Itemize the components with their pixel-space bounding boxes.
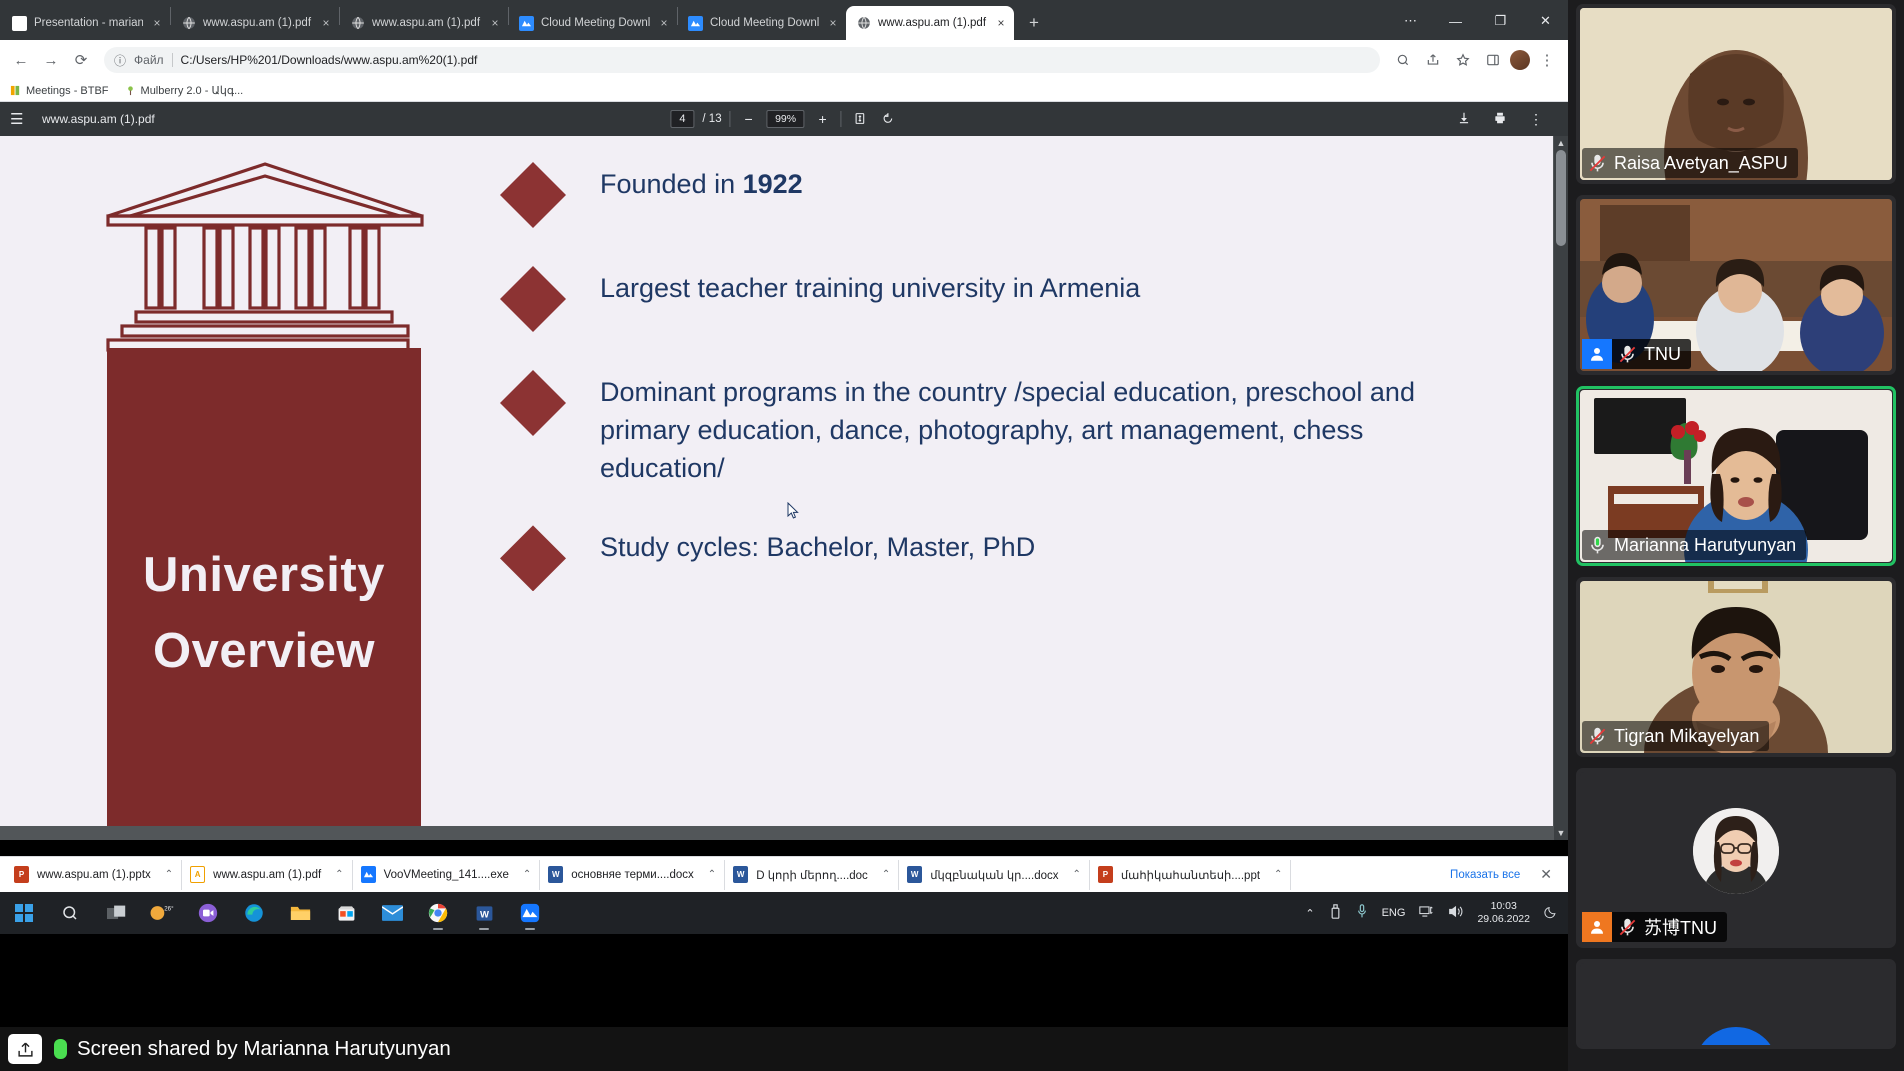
window-controls: ⋯ — ❐ ✕ (1388, 6, 1568, 36)
running-indicator (479, 928, 489, 930)
diamond-bullet-icon (500, 162, 566, 228)
pdf-toolbar: ☰ www.aspu.am (1).pdf 4 / 13 − 99% + (0, 102, 1568, 136)
download-item-2[interactable]: VooVMeeting_141....exe ⌃ (353, 860, 541, 890)
word-icon: W (733, 866, 748, 883)
print-icon[interactable] (1490, 111, 1510, 127)
download-label: մահիկահանտեսի....ppt (1121, 868, 1260, 882)
taskbar-apps: 26° (0, 895, 548, 931)
powerpoint-icon: P (1098, 866, 1113, 883)
download-item-5[interactable]: W մկզբնական կր....docx ⌃ (899, 860, 1090, 890)
browser-toolbar: ← → ⟳ ⓘ Файл C:/Users/HP%201/Downloads/w… (0, 40, 1568, 80)
scroll-up-arrow[interactable]: ▲ (1555, 138, 1567, 148)
url-text: C:/Users/HP%201/Downloads/www.aspu.am%20… (181, 53, 1370, 67)
powerpoint-icon: P (14, 866, 29, 883)
mail-icon[interactable] (374, 895, 410, 931)
participant-tile-raisa-avetyan[interactable]: Raisa Avetyan_ASPU (1576, 4, 1896, 184)
pdf-viewport[interactable]: University Overview Founded in 1922 Larg… (0, 136, 1568, 840)
browser-tab-3[interactable]: Cloud Meeting Download_Video × (509, 6, 677, 40)
tab-close-icon[interactable]: × (994, 16, 1008, 30)
word-icon: W (907, 866, 922, 883)
language-indicator[interactable]: ENG (1382, 907, 1406, 919)
svg-text:W: W (480, 909, 489, 920)
microphone-on-icon (54, 1039, 67, 1059)
tab-label: Presentation - marianna.harutyu (34, 17, 143, 29)
zoom-icon (519, 16, 534, 31)
file-explorer-icon[interactable] (282, 895, 318, 931)
participant-name: TNU (1642, 344, 1691, 365)
running-indicator (433, 928, 443, 930)
star-icon[interactable] (1450, 47, 1476, 73)
participant-name-bar: TNU (1582, 339, 1691, 369)
slide-bullet-0: Founded in 1922 (500, 166, 1460, 228)
rotate-icon[interactable] (878, 112, 898, 127)
participant-name-bar: Tigran Mikayelyan (1582, 721, 1769, 751)
pdf-scroll-thumb[interactable] (1556, 150, 1566, 246)
pdf-icon: A (190, 866, 205, 883)
avatar (1693, 808, 1779, 894)
word-icon: W (548, 866, 563, 883)
address-bar[interactable]: ⓘ Файл C:/Users/HP%201/Downloads/www.asp… (104, 47, 1380, 73)
bullet-text: Founded in 1922 (600, 166, 803, 204)
clock-date: 29.06.2022 (1477, 913, 1530, 926)
download-label: մկզբնական կր....docx (930, 868, 1058, 882)
mic-muted-icon (1612, 345, 1642, 364)
globe-icon (350, 16, 365, 31)
toolbar-divider (841, 111, 842, 127)
university-building-illustration (100, 158, 430, 363)
reload-icon[interactable]: ⟳ (68, 47, 94, 73)
microsoft-store-icon[interactable] (328, 895, 364, 931)
chevron-up-icon[interactable]: ⌃ (335, 869, 343, 880)
taskbar-clock[interactable]: 10:03 29.06.2022 (1477, 900, 1530, 926)
browser-tab-0[interactable]: M Presentation - marianna.harutyu × (2, 6, 170, 40)
zoom-level-input[interactable]: 99% (767, 110, 805, 128)
chevron-up-icon[interactable]: ⌃ (708, 869, 716, 880)
chevron-up-icon[interactable]: ⌃ (1072, 869, 1080, 880)
screen-share-status-bar: Screen shared by Marianna Harutyunyan (0, 1027, 1568, 1071)
chevron-up-icon[interactable]: ⌃ (165, 869, 173, 880)
zoom-icon[interactable] (512, 895, 548, 931)
tab-close-icon[interactable]: × (150, 16, 164, 30)
bookmark-mulberry[interactable]: Mulberry 2.0 - Ակգ... (125, 84, 244, 97)
bullet-text-prefix: Founded in (600, 169, 743, 199)
pdf-filename: www.aspu.am (1).pdf (42, 112, 155, 126)
download-icon[interactable] (1454, 111, 1474, 127)
voovmeeting-icon (361, 866, 376, 883)
zoom-in-button[interactable]: + (813, 112, 833, 126)
running-indicator (525, 928, 535, 930)
diamond-bullet-icon (500, 525, 566, 591)
host-badge-icon (1582, 912, 1612, 942)
page-number-input[interactable]: 4 (670, 110, 694, 128)
svg-text:26°: 26° (164, 906, 174, 913)
forward-icon[interactable]: → (38, 47, 64, 73)
diamond-bullet-icon (500, 370, 566, 436)
pdf-toolbar-right: ⋮ (1454, 111, 1546, 127)
scroll-down-arrow[interactable]: ▼ (1555, 828, 1567, 838)
slide-content: University Overview Founded in 1922 Larg… (0, 136, 1553, 826)
new-tab-button[interactable]: + (1020, 9, 1048, 37)
download-label: VooVMeeting_141....exe (384, 869, 509, 881)
slide-bullet-2: Dominant programs in the country /specia… (500, 374, 1460, 487)
pdf-more-icon[interactable]: ⋮ (1526, 112, 1546, 126)
bookmark-label: Meetings - BTBF (26, 85, 109, 97)
voovmeeting-taskbar-icon[interactable] (190, 895, 226, 931)
chevron-up-icon[interactable]: ⌃ (1305, 907, 1314, 920)
hamburger-icon[interactable]: ☰ (10, 110, 32, 128)
tab-close-icon[interactable]: × (657, 16, 671, 30)
toolbar-divider (730, 111, 731, 127)
tab-close-icon[interactable]: × (319, 16, 333, 30)
slide-title-line1: University (143, 538, 385, 614)
browser-tab-2[interactable]: www.aspu.am (1).pdf × (340, 6, 508, 40)
participant-name: Marianna Harutyunyan (1612, 535, 1806, 556)
participant-tile-subo-tnu[interactable]: 苏博TNU (1576, 768, 1896, 948)
mic-muted-icon (1582, 727, 1612, 746)
bullet-text: Largest teacher training university in A… (600, 270, 1140, 308)
tab-label: www.aspu.am (1).pdf (878, 17, 987, 29)
slide-bullet-1: Largest teacher training university in A… (500, 270, 1460, 332)
moon-icon[interactable] (1544, 905, 1558, 922)
browser-tab-4[interactable]: Cloud Meeting Download_Video × (678, 6, 846, 40)
browser-tab-strip: M Presentation - marianna.harutyu × www.… (0, 0, 1568, 40)
participant-tile-partial[interactable] (1576, 959, 1896, 1049)
tab-label: Cloud Meeting Download_Video (710, 17, 819, 29)
window-close-button[interactable]: ✕ (1523, 13, 1568, 29)
screen-black-area (0, 934, 1568, 1027)
slide-bullet-3: Study cycles: Bachelor, Master, PhD (500, 529, 1460, 591)
gmail-icon: M (12, 16, 27, 31)
browser-tab-1[interactable]: www.aspu.am (1).pdf × (171, 6, 339, 40)
download-label: основняе терми....docx (571, 869, 694, 881)
fit-page-icon[interactable] (850, 112, 870, 127)
chrome-menu-icon[interactable]: ⋮ (1534, 47, 1560, 73)
participant-name-bar: Marianna Harutyunyan (1582, 530, 1806, 560)
weather-icon[interactable]: 26° (144, 895, 180, 931)
slide-title-block: University Overview (107, 348, 421, 826)
volume-icon[interactable] (1448, 905, 1463, 921)
share-status-text-wrap: Screen shared by Marianna Harutyunyan (54, 1037, 451, 1061)
back-icon[interactable]: ← (8, 47, 34, 73)
pdf-scrollbar[interactable]: ▲ ▼ (1554, 136, 1568, 840)
show-all-downloads-button[interactable]: Показать все (1440, 865, 1530, 885)
close-downloads-shelf-button[interactable]: ✕ (1530, 866, 1562, 883)
window-minimize-button[interactable]: — (1433, 14, 1478, 29)
diamond-bullet-icon (500, 266, 566, 332)
share-screen-icon[interactable] (8, 1034, 42, 1064)
edge-icon[interactable] (236, 895, 272, 931)
mic-muted-icon (1612, 918, 1642, 937)
bookmark-label: Mulberry 2.0 - Ակգ... (141, 84, 244, 97)
windows-taskbar: 26° (0, 892, 1568, 934)
tab-label: Cloud Meeting Download_Video (541, 17, 650, 29)
download-item-6[interactable]: P մահիկահանտեսի....ppt ⌃ (1090, 860, 1292, 890)
sidebar-icon[interactable] (1480, 47, 1506, 73)
system-tray: ⌃ ENG 10:03 29.06.2022 (1305, 900, 1568, 926)
search-icon[interactable] (1390, 47, 1416, 73)
tab-label: www.aspu.am (1).pdf (203, 17, 312, 29)
search-icon[interactable] (52, 895, 88, 931)
avatar (1694, 1027, 1778, 1045)
participant-tile-tnu[interactable]: TNU (1576, 195, 1896, 375)
slide-bullet-list: Founded in 1922 Largest teacher training… (500, 166, 1460, 633)
avatar[interactable] (1510, 50, 1530, 70)
download-label: D կորի մերող....doc (756, 868, 868, 882)
window-more-icon[interactable]: ⋯ (1388, 13, 1433, 29)
participant-name-bar: 苏博TNU (1582, 912, 1727, 942)
word-icon[interactable]: W (466, 895, 502, 931)
tab-close-icon[interactable]: × (826, 16, 840, 30)
start-icon[interactable] (6, 895, 42, 931)
bullet-text: Dominant programs in the country /specia… (600, 374, 1460, 487)
share-icon[interactable] (1420, 47, 1446, 73)
download-label: www.aspu.am (1).pdf (213, 869, 321, 881)
slide-title-line2: Overview (153, 614, 375, 690)
bookmarks-bar: Meetings - BTBF Mulberry 2.0 - Ակգ... (0, 80, 1568, 102)
browser-tab-5-active[interactable]: www.aspu.am (1).pdf × (846, 6, 1014, 40)
pdf-page: University Overview Founded in 1922 Larg… (0, 136, 1553, 826)
download-label: www.aspu.am (1).pptx (37, 869, 151, 881)
window-maximize-button[interactable]: ❐ (1478, 13, 1523, 29)
participant-name: Tigran Mikayelyan (1612, 726, 1769, 747)
host-badge-icon (1582, 339, 1612, 369)
usb-icon[interactable] (1329, 904, 1342, 922)
shared-screen-area: M Presentation - marianna.harutyu × www.… (0, 0, 1568, 1071)
download-item-3[interactable]: W основняе терми....docx ⌃ (540, 860, 725, 890)
omnibox-divider (172, 53, 173, 67)
bookmark-favicon (10, 85, 21, 96)
task-view-icon[interactable] (98, 895, 134, 931)
participant-name-bar: Raisa Avetyan_ASPU (1582, 148, 1798, 178)
chevron-up-icon[interactable]: ⌃ (882, 869, 890, 880)
scheme-label: Файл (134, 53, 164, 67)
participant-video-placeholder (1580, 963, 1892, 1045)
zoom-out-button[interactable]: − (739, 112, 759, 126)
microphone-icon[interactable] (1356, 904, 1368, 922)
download-item-4[interactable]: W D կորի մերող....doc ⌃ (725, 860, 899, 890)
participant-name: 苏博TNU (1642, 914, 1727, 940)
clock-time: 10:03 (1477, 900, 1530, 913)
download-item-1[interactable]: A www.aspu.am (1).pdf ⌃ (182, 860, 352, 890)
bookmark-favicon (125, 85, 136, 96)
info-icon[interactable]: ⓘ (114, 52, 126, 69)
participant-name: Raisa Avetyan_ASPU (1612, 153, 1798, 174)
globe-icon (856, 16, 871, 31)
mic-unmuted-icon (1582, 536, 1612, 555)
chevron-up-icon[interactable]: ⌃ (1274, 869, 1282, 880)
tab-label: www.aspu.am (1).pdf (372, 17, 481, 29)
chevron-up-icon[interactable]: ⌃ (523, 869, 531, 880)
share-status-text: Screen shared by Marianna Harutyunyan (77, 1037, 451, 1061)
zoom-icon (688, 16, 703, 31)
bookmark-meetings[interactable]: Meetings - BTBF (10, 85, 109, 97)
tab-close-icon[interactable]: × (488, 16, 502, 30)
bullet-text-strong: 1922 (743, 169, 803, 199)
globe-icon (181, 16, 196, 31)
bullet-text: Study cycles: Bachelor, Master, PhD (600, 529, 1035, 567)
network-icon[interactable] (1419, 905, 1434, 921)
chrome-icon[interactable] (420, 895, 456, 931)
download-item-0[interactable]: P www.aspu.am (1).pptx ⌃ (6, 860, 182, 890)
participant-video-strip[interactable]: Raisa Avetyan_ASPU (1568, 0, 1904, 1071)
downloads-shelf: P www.aspu.am (1).pptx ⌃ A www.aspu.am (… (0, 856, 1568, 892)
mic-muted-icon (1582, 154, 1612, 173)
chrome-browser-window: M Presentation - marianna.harutyu × www.… (0, 0, 1568, 840)
participant-tile-marianna-harutyunyan[interactable]: Marianna Harutyunyan (1576, 386, 1896, 566)
page-total-label: / 13 (702, 113, 721, 125)
participant-tile-tigran-mikayelyan[interactable]: Tigran Mikayelyan (1576, 577, 1896, 757)
pdf-page-controls: 4 / 13 − 99% + (670, 110, 897, 128)
